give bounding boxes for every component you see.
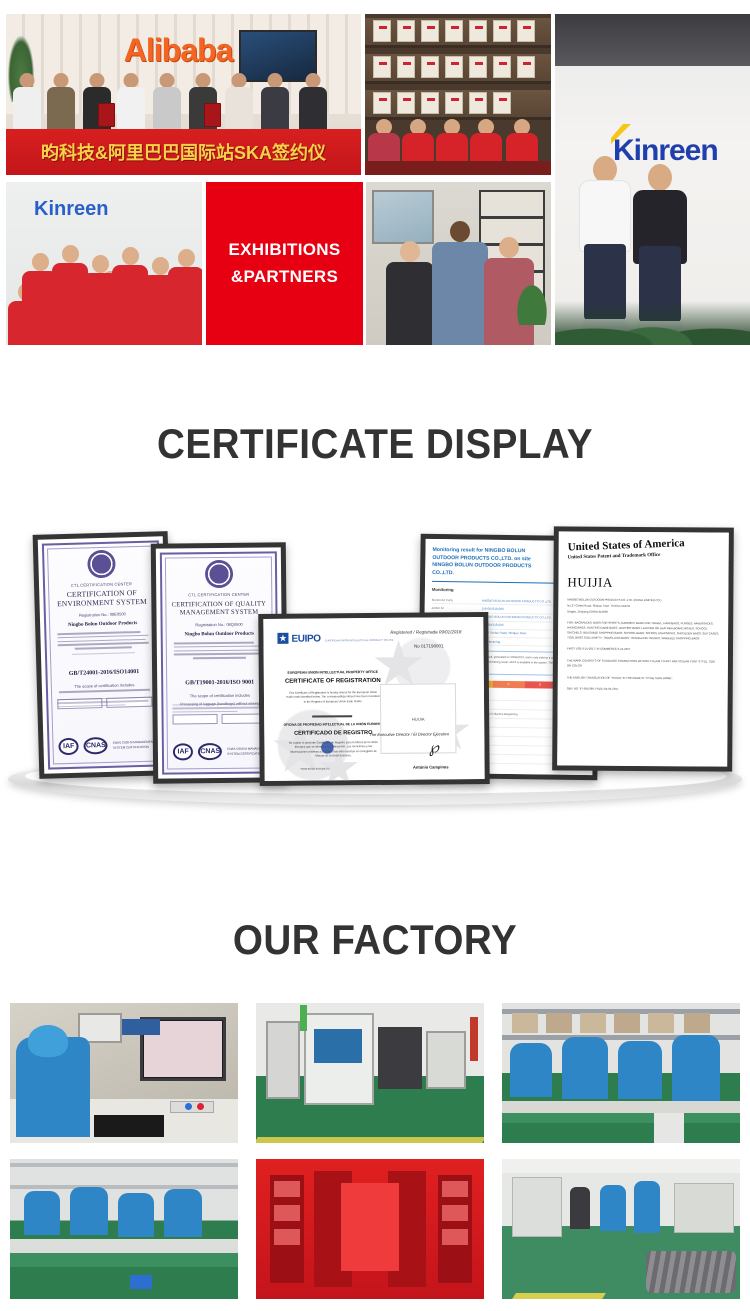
- ctl-seal-icon: [204, 560, 232, 588]
- cnas-mark-icon: CNAS: [84, 737, 108, 755]
- usa-heading: United States of America: [567, 536, 719, 554]
- euipo-registered-date: Registered / Registrada 09/01/2018: [390, 629, 461, 635]
- factory-section-heading: OUR FACTORY: [30, 916, 720, 964]
- product-detail-page: Alibaba 昀科技&阿里巴巴国际站SKA签约仪: [0, 0, 750, 1311]
- exhibitions-collage: Alibaba 昀科技&阿里巴巴国际站SKA签约仪: [0, 0, 750, 345]
- cnas-mark-icon: CNAS: [198, 743, 222, 760]
- photo-award-wall-team: [365, 14, 551, 175]
- certificate-display-stage: CTL CERTIFICATION CENTER CERTIFICATION O…: [0, 505, 750, 805]
- trademark-name: HUIJIA: [567, 574, 719, 591]
- euipo-logo: ★ EUIPO EUROPEAN UNION INTELLECTUAL PROP…: [277, 628, 393, 647]
- badge-line-1: EXHIBITIONS: [229, 237, 341, 263]
- photo-kinreen-staff-group: Kinreen: [6, 182, 202, 345]
- photo-office-buyer-visit: [366, 182, 551, 345]
- certificate-section-heading: CERTIFICATE DISPLAY: [30, 420, 720, 468]
- alibaba-wall-logo: Alibaba: [124, 32, 233, 69]
- photo-assembly-line-workers: [502, 1003, 740, 1143]
- photo-alibaba-signing-ceremony: Alibaba 昀科技&阿里巴巴国际站SKA签约仪: [6, 14, 361, 175]
- signing-banner: 昀科技&阿里巴巴国际站SKA签约仪: [6, 129, 361, 175]
- ctl-seal-icon: [87, 550, 116, 579]
- iaf-mark-icon: IAF: [173, 743, 194, 760]
- photo-kinreen-lobby-visitors: Kinreen: [555, 14, 750, 345]
- exhibitions-partners-badge: EXHIBITIONS &PARTNERS: [206, 182, 363, 345]
- photo-laser-marking-workstation: [10, 1003, 238, 1143]
- certificate-euipo-registration[interactable]: ★ EUIPO EUROPEAN UNION INTELLECTUAL PROP…: [258, 612, 489, 786]
- photo-warehouse-corridor: [502, 1159, 740, 1299]
- factory-photo-grid: [0, 1003, 750, 1303]
- certificate-us-trademark[interactable]: United States of America United States P…: [552, 526, 734, 771]
- iaf-mark-icon: IAF: [58, 738, 79, 756]
- euipo-registration-number: No 017198001: [414, 643, 444, 648]
- photo-red-led-aging-room: [256, 1159, 484, 1299]
- eu-emblem-icon: [316, 736, 338, 758]
- photo-smt-production-line: [256, 1003, 484, 1143]
- badge-line-2: &PARTNERS: [231, 264, 338, 290]
- kinreen-wall-logo-small: Kinreen: [34, 198, 108, 221]
- photo-assembly-clean-room: [10, 1159, 238, 1299]
- euipo-mark-panel: HUIJIA: [380, 683, 457, 754]
- signature-icon: ℘: [427, 738, 440, 758]
- amfori-title: Monitoring result for NINGBO BOLUN OUTDO…: [432, 547, 544, 579]
